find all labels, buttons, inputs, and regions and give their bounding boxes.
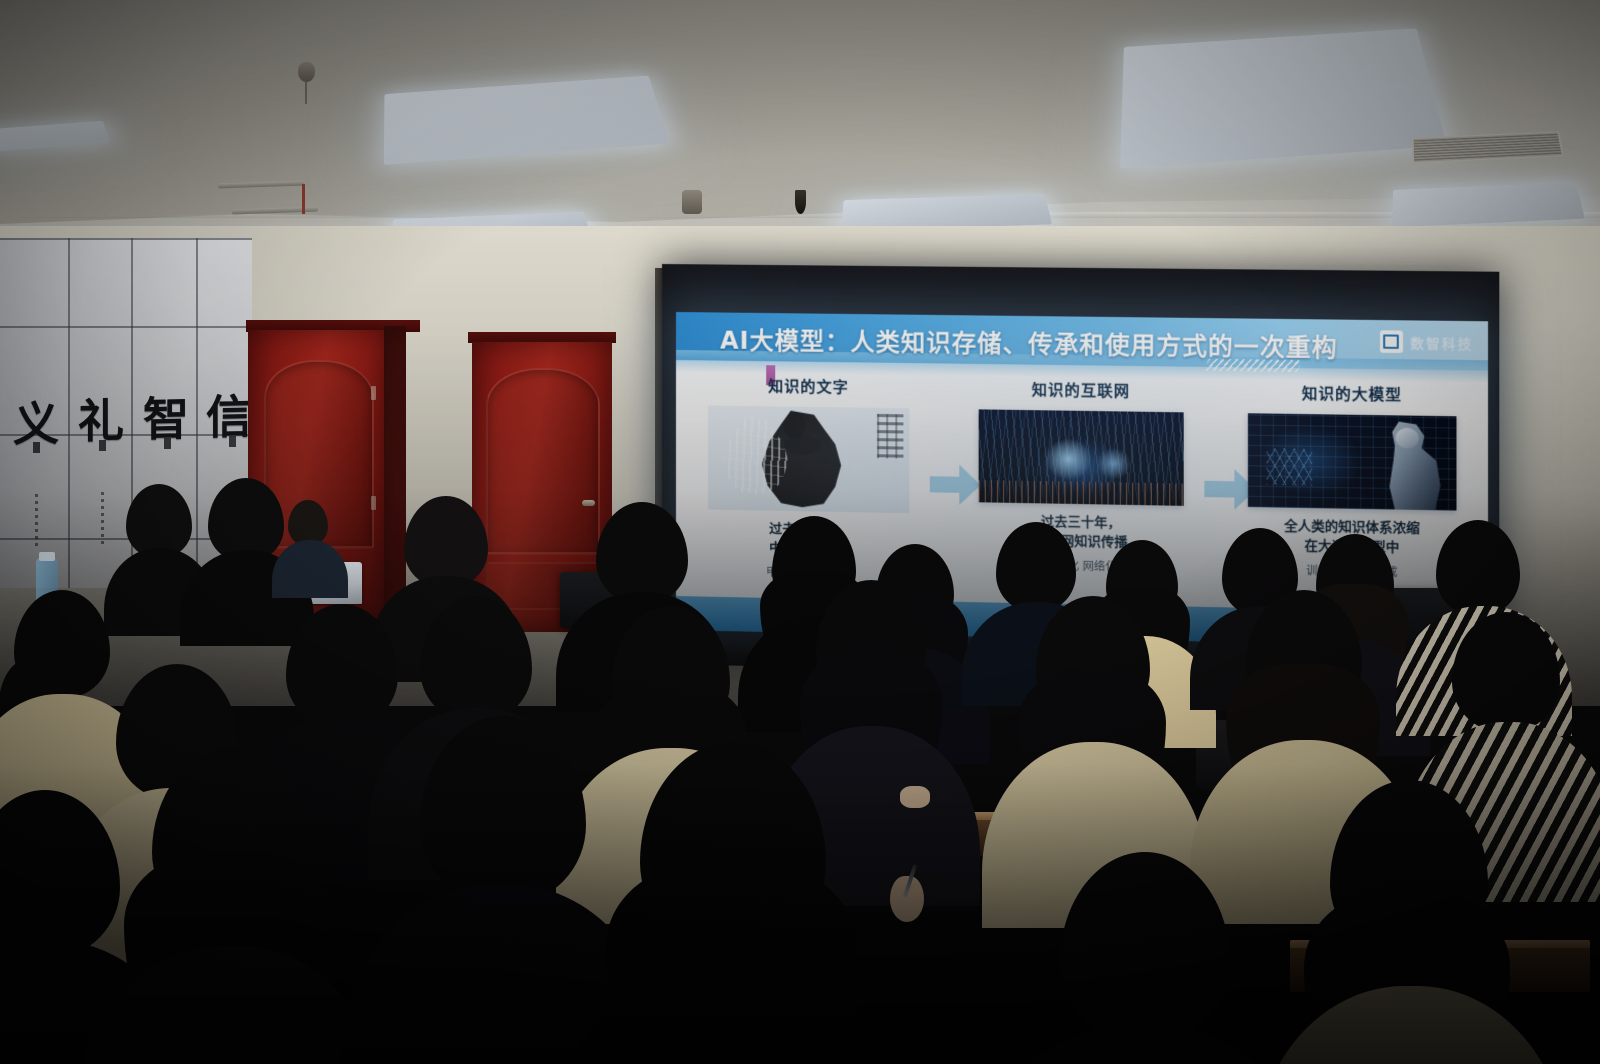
chair-back[interactable] bbox=[1196, 720, 1248, 790]
shoulders bbox=[556, 748, 786, 924]
shoulders bbox=[0, 940, 194, 1064]
shoulders bbox=[0, 694, 160, 844]
desk-front bbox=[860, 820, 1190, 856]
ceiling-panel-light bbox=[0, 123, 104, 149]
ceiling-panel-light bbox=[389, 78, 664, 161]
calligraphy-signature-strokes bbox=[35, 494, 38, 546]
column-image-ancient-ink bbox=[708, 405, 910, 513]
water-bottle[interactable] bbox=[36, 558, 58, 606]
column-body-line1: 过去三十年， bbox=[1041, 514, 1121, 531]
long-hair bbox=[594, 682, 746, 852]
slide-column-3: 知识的大模型 全人类的知识体系浓缩 在大语言模型中 训练 / 推理 / 生成 bbox=[1233, 381, 1471, 582]
desktop-monitor bbox=[1388, 588, 1484, 652]
lecture-room-photo: 义 礼 智 信 AI大模型：人类知识存储、传承和使用方式的一次重构 数智科技 知… bbox=[0, 0, 1600, 1064]
long-hair bbox=[124, 852, 334, 1064]
column-body-line1: 过去五千年， bbox=[769, 522, 848, 539]
ceiling-speaker bbox=[298, 62, 315, 82]
shoulders bbox=[976, 1024, 1310, 1064]
shoulders bbox=[236, 714, 450, 878]
ceiling-projector-sensor bbox=[682, 190, 702, 214]
column-image-ai-robot bbox=[1248, 413, 1457, 510]
column-body: 全人类的知识体系浓缩 在大语言模型中 训练 / 推理 / 生成 bbox=[1233, 517, 1471, 582]
projector-mount-bracket bbox=[218, 181, 304, 189]
projector-mount-bracket bbox=[232, 207, 318, 215]
calligraphy-seal bbox=[229, 436, 236, 447]
ancient-script-icon bbox=[877, 414, 903, 459]
logo-mark-icon bbox=[1380, 330, 1403, 353]
column-body-line2: 互联网知识传播 bbox=[1034, 533, 1127, 550]
pen[interactable] bbox=[903, 864, 917, 898]
foreground-shadow bbox=[0, 764, 1600, 1064]
column-image-network-city bbox=[979, 409, 1184, 505]
slide-column-2: 知识的互联网 过去三十年， 互联网知识传播 数字化 网络化 bbox=[964, 378, 1198, 577]
column-note: 数字化 网络化 bbox=[964, 556, 1198, 577]
robot-head-icon bbox=[1396, 428, 1419, 449]
column-heading: 知识的大模型 bbox=[1233, 381, 1471, 406]
column-body-line2: 在大语言模型中 bbox=[1304, 538, 1399, 555]
city-lights-texture bbox=[979, 480, 1184, 506]
column-note: 甲骨文 金文 竹简 bbox=[694, 563, 924, 584]
hex-network-icon bbox=[1267, 448, 1313, 485]
shoulders bbox=[1254, 986, 1568, 1064]
apple-logo-icon bbox=[322, 580, 331, 591]
right-door-arch-panel bbox=[486, 368, 600, 554]
door-handle[interactable] bbox=[582, 500, 595, 506]
projector-drop-pole bbox=[302, 184, 305, 214]
laptop-macbook[interactable] bbox=[290, 562, 362, 604]
calligraphy-signature-strokes bbox=[166, 490, 169, 542]
head bbox=[152, 748, 312, 928]
calligraphy-seal bbox=[33, 442, 40, 453]
shoulders bbox=[76, 946, 386, 1064]
head bbox=[640, 742, 826, 950]
door-hinge bbox=[371, 386, 376, 400]
column-body-line1: 全人类的知识体系浓缩 bbox=[1284, 519, 1420, 537]
hanging-wire bbox=[305, 82, 307, 104]
calligraphy-seal bbox=[164, 438, 171, 449]
desk-front bbox=[1290, 948, 1590, 992]
column-body: 过去五千年， 中国历史记录 甲骨文 金文 竹简 bbox=[694, 519, 924, 583]
logo-text: 数智科技 bbox=[1410, 332, 1473, 352]
hand-holding-pen bbox=[890, 876, 924, 922]
calligraphy-signature-strokes bbox=[231, 488, 234, 540]
column-heading: 知识的文字 bbox=[694, 374, 924, 398]
head bbox=[1330, 780, 1488, 958]
chair-back[interactable] bbox=[465, 753, 538, 852]
presenter-logo: 数智科技 bbox=[1380, 330, 1473, 354]
long-hair bbox=[606, 862, 856, 1064]
shoulders-striped-garment bbox=[1402, 722, 1600, 902]
air-conditioning-vent bbox=[1412, 131, 1564, 163]
desktop-monitor bbox=[560, 572, 636, 628]
presentation-slide: AI大模型：人类知识存储、传承和使用方式的一次重构 数智科技 知识的文字 过去五… bbox=[676, 312, 1488, 648]
paper-sheet[interactable] bbox=[884, 799, 958, 814]
door-hinge bbox=[371, 496, 376, 510]
head bbox=[1060, 852, 1230, 1042]
column-note: 训练 / 推理 / 生成 bbox=[1233, 561, 1471, 582]
bottle-cap bbox=[39, 552, 55, 561]
left-door-arch-panel bbox=[264, 360, 374, 548]
left-door-open-leaf[interactable] bbox=[384, 326, 406, 628]
ceiling-panel-light bbox=[1126, 31, 1441, 164]
shoulders bbox=[340, 884, 662, 1064]
shoulders bbox=[548, 964, 914, 1064]
column-body-line2: 中国历史记录 bbox=[769, 541, 848, 558]
ceiling-panel-light bbox=[1398, 185, 1580, 225]
slide-column-1: 知识的文字 过去五千年， 中国历史记录 甲骨文 金文 竹简 bbox=[694, 374, 924, 583]
column-heading: 知识的互联网 bbox=[964, 378, 1198, 403]
ceiling-panel-light bbox=[847, 196, 1047, 228]
calligraphy-signature-strokes bbox=[101, 492, 104, 544]
head bbox=[0, 790, 120, 958]
calligraphy-seal bbox=[99, 440, 106, 451]
ceiling-camera bbox=[795, 190, 806, 214]
column-body: 过去三十年， 互联网知识传播 数字化 网络化 bbox=[964, 512, 1198, 577]
shoulders bbox=[58, 788, 294, 978]
